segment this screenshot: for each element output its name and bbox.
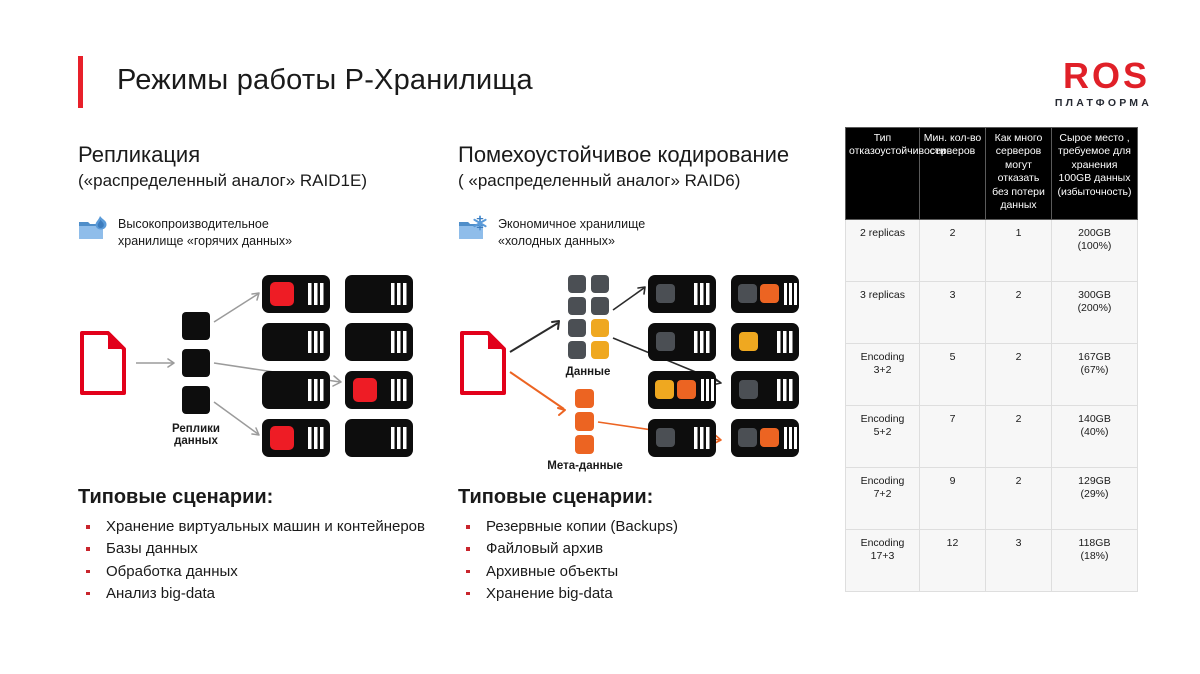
cell-raw-size: 118GB: [1079, 537, 1111, 549]
server-node: [648, 419, 716, 457]
fault-tolerance-table: Тип отказоустойчивости Мин. кол-во серве…: [845, 127, 1138, 592]
server-node: [262, 419, 330, 457]
cell-raw-pct: (29%): [1055, 488, 1134, 502]
server-node: [648, 323, 716, 361]
table-row: Encoding17+3 12 3 118GB(18%): [846, 529, 1138, 591]
server-node: [345, 371, 413, 409]
meta-blocks: [575, 389, 594, 454]
cold-storage-text: Экономичное хранилище «холодных данных»: [498, 215, 645, 250]
cell-min-servers: 7: [920, 405, 986, 467]
cell-min-servers: 12: [920, 529, 986, 591]
server-node: [731, 323, 799, 361]
cell-raw-size: 300GB: [1078, 289, 1111, 301]
cell-tolerated: 2: [986, 405, 1052, 467]
list-item: Архивные объекты: [458, 561, 828, 582]
list-item: Анализ big-data: [78, 583, 448, 604]
cell-tolerated: 3: [986, 529, 1052, 591]
table-header-raw-space: Сырое место , требуемое для хранения 100…: [1052, 128, 1138, 220]
section-replication: Репликация («распределенный аналог» RAID…: [78, 142, 458, 250]
replication-heading: Репликация: [78, 142, 458, 167]
title-accent-bar: [78, 56, 83, 108]
cell-type-sub: 5+2: [849, 426, 916, 440]
server-node: [648, 275, 716, 313]
server-grid: [648, 275, 799, 457]
erasure-heading: Помехоустойчивое кодирование: [458, 142, 838, 167]
cell-type-sub: 7+2: [849, 488, 916, 502]
cell-type: Encoding5+2: [846, 405, 920, 467]
cell-raw: 300GB(200%): [1052, 281, 1138, 343]
page-title: Режимы работы Р-Хранилища: [117, 64, 533, 97]
cell-raw-pct: (200%): [1055, 302, 1134, 316]
cell-type-main: 2 replicas: [860, 227, 905, 239]
cell-raw: 200GB(100%): [1052, 219, 1138, 281]
server-node: [345, 275, 413, 313]
cell-raw-size: 200GB: [1078, 227, 1111, 239]
cold-storage-line2: «холодных данных»: [498, 233, 645, 250]
server-node: [648, 371, 716, 409]
cell-raw: 118GB(18%): [1052, 529, 1138, 591]
list-item: Хранение big-data: [458, 583, 828, 604]
table-row: Encoding5+2 7 2 140GB(40%): [846, 405, 1138, 467]
cell-raw-pct: (18%): [1055, 550, 1134, 564]
folder-snowflake-icon: [458, 215, 492, 246]
section-erasure-coding: Помехоустойчивое кодирование ( «распреде…: [458, 142, 838, 250]
replication-scenarios-title: Типовые сценарии:: [78, 486, 448, 509]
server-grid: [262, 275, 413, 457]
cell-raw-pct: (40%): [1055, 426, 1134, 440]
table-row: 2 replicas 2 1 200GB(100%): [846, 219, 1138, 281]
hot-storage-badge: Высокопроизводительное хранилище «горячи…: [78, 215, 458, 250]
cell-min-servers: 2: [920, 219, 986, 281]
table-row: Encoding3+2 5 2 167GB(67%): [846, 343, 1138, 405]
brand-logo: ROS ПЛАТФОРМА: [996, 58, 1156, 109]
folder-flame-icon: [78, 215, 112, 246]
list-item: Базы данных: [78, 538, 448, 559]
cell-type: 2 replicas: [846, 219, 920, 281]
cell-tolerated: 2: [986, 343, 1052, 405]
replica-label-line2: данных: [174, 435, 218, 447]
list-item: Обработка данных: [78, 561, 448, 582]
server-node: [262, 371, 330, 409]
erasure-coding-diagram: Данные Мета-данные: [458, 262, 818, 477]
replication-scenarios: Типовые сценарии: Хранение виртуальных м…: [78, 486, 448, 605]
logo-wordmark: ROS: [996, 58, 1156, 94]
cell-raw: 167GB(67%): [1052, 343, 1138, 405]
cell-raw: 140GB(40%): [1052, 405, 1138, 467]
server-node: [345, 323, 413, 361]
cell-type-main: 3 replicas: [860, 289, 905, 301]
meta-blocks-label: Мета-данные: [547, 460, 623, 472]
server-node: [731, 419, 799, 457]
cold-storage-badge: Экономичное хранилище «холодных данных»: [458, 215, 838, 250]
cell-type-main: Encoding: [861, 413, 905, 425]
cell-raw-pct: (67%): [1055, 364, 1134, 378]
erasure-subheading: ( «распределенный аналог» RAID6): [458, 171, 838, 191]
data-blocks: [568, 275, 609, 359]
server-node: [731, 275, 799, 313]
table-header-min-servers: Мин. кол-во серверов: [920, 128, 986, 220]
list-item: Хранение виртуальных машин и контейнеров: [78, 516, 448, 537]
cell-tolerated: 1: [986, 219, 1052, 281]
cell-raw-pct: (100%): [1055, 240, 1134, 254]
cell-min-servers: 3: [920, 281, 986, 343]
table-row: Encoding7+2 9 2 129GB(29%): [846, 467, 1138, 529]
document-icon: [462, 333, 504, 393]
erasure-scenarios-title: Типовые сценарии:: [458, 486, 828, 509]
cell-type: Encoding17+3: [846, 529, 920, 591]
replica-blocks: [182, 312, 210, 414]
list-item: Резервные копии (Backups): [458, 516, 828, 537]
server-node: [731, 371, 799, 409]
cell-type-main: Encoding: [861, 351, 905, 363]
replication-scenarios-list: Хранение виртуальных машин и контейнеров…: [78, 516, 448, 604]
cell-raw-size: 140GB: [1078, 413, 1111, 425]
table-row: 3 replicas 3 2 300GB(200%): [846, 281, 1138, 343]
replica-label-line1: Реплики: [172, 423, 220, 435]
cold-storage-line1: Экономичное хранилище: [498, 217, 645, 231]
server-node: [262, 323, 330, 361]
server-node: [345, 419, 413, 457]
cell-raw: 129GB(29%): [1052, 467, 1138, 529]
table-header-tolerated: Как много серверов могут отказать без по…: [986, 128, 1052, 220]
cell-tolerated: 2: [986, 467, 1052, 529]
cell-type: Encoding3+2: [846, 343, 920, 405]
erasure-scenarios-list: Резервные копии (Backups) Файловый архив…: [458, 516, 828, 604]
cell-type-main: Encoding: [861, 475, 905, 487]
cell-type-main: Encoding: [861, 537, 905, 549]
cell-min-servers: 5: [920, 343, 986, 405]
cell-tolerated: 2: [986, 281, 1052, 343]
logo-subtitle: ПЛАТФОРМА: [996, 97, 1156, 109]
cell-type: 3 replicas: [846, 281, 920, 343]
table-header-row: Тип отказоустойчивости Мин. кол-во серве…: [846, 128, 1138, 220]
server-node: [262, 275, 330, 313]
replication-subheading: («распределенный аналог» RAID1E): [78, 171, 458, 191]
cell-type-sub: 17+3: [849, 550, 916, 564]
table-header-type: Тип отказоустойчивости: [846, 128, 920, 220]
replication-diagram: Реплики данных: [78, 262, 438, 477]
data-blocks-label: Данные: [566, 366, 611, 378]
cell-raw-size: 129GB: [1078, 475, 1111, 487]
cell-raw-size: 167GB: [1078, 351, 1111, 363]
hot-storage-line2: хранилище «горячих данных»: [118, 233, 292, 250]
hot-storage-line1: Высокопроизводительное: [118, 217, 269, 231]
cell-type: Encoding7+2: [846, 467, 920, 529]
erasure-scenarios: Типовые сценарии: Резервные копии (Backu…: [458, 486, 828, 605]
cell-type-sub: 3+2: [849, 364, 916, 378]
cell-min-servers: 9: [920, 467, 986, 529]
document-icon: [82, 333, 124, 393]
hot-storage-text: Высокопроизводительное хранилище «горячи…: [118, 215, 292, 250]
list-item: Файловый архив: [458, 538, 828, 559]
